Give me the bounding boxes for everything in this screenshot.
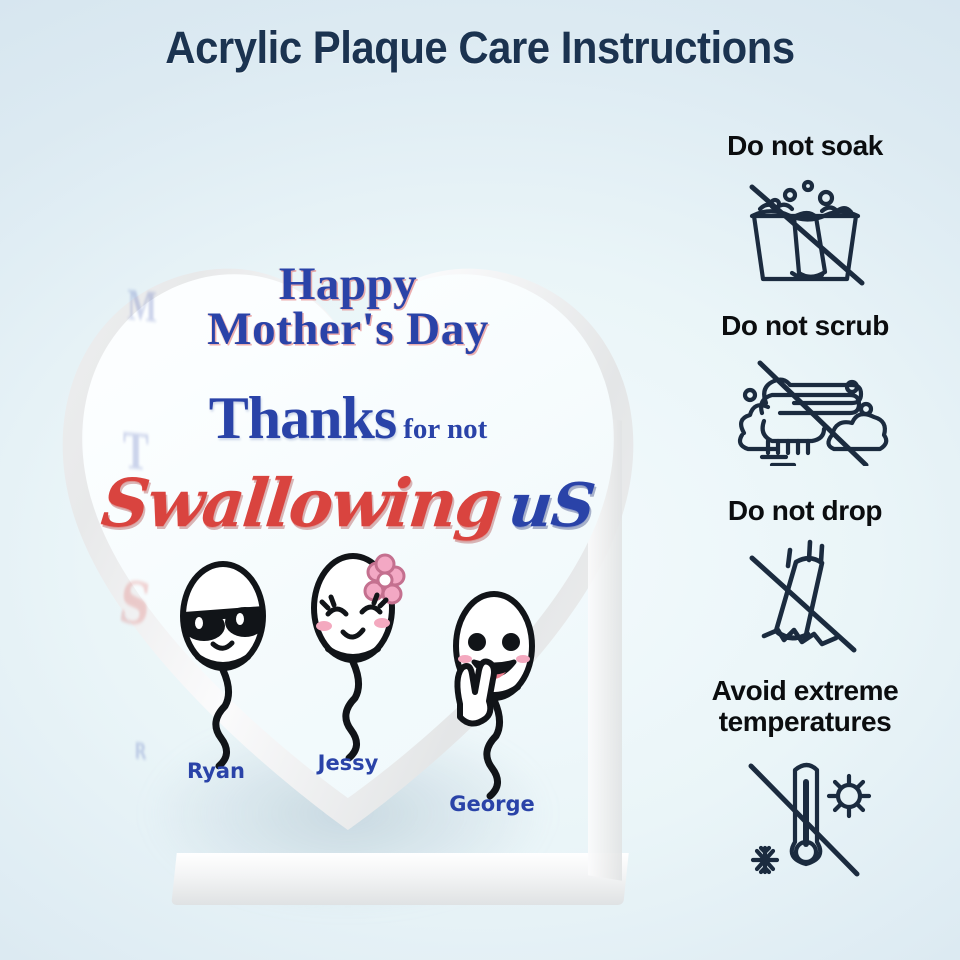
thanks-line: Thanks for not <box>50 384 646 453</box>
character-group: Ryan <box>50 554 646 854</box>
sperm-character-peace-icon <box>432 584 552 804</box>
no-scrub-icon <box>720 351 890 466</box>
character-ryan: Ryan <box>168 554 278 774</box>
care-label-no-drop: Do not drop <box>660 495 950 526</box>
care-label-avoid-extreme-temperatures-line2: temperatures <box>660 706 950 737</box>
strike-line <box>752 187 862 283</box>
character-george: George <box>432 584 552 809</box>
swallowing-line: Swallowing uS <box>50 464 646 542</box>
eye-right <box>502 633 520 651</box>
care-label-no-soak: Do not soak <box>660 130 950 161</box>
page-title: Acrylic Plaque Care Instructions <box>34 22 927 74</box>
for-not-word: for not <box>403 413 487 446</box>
care-label-avoid-extreme-temperatures-line1: Avoid extreme <box>660 675 950 706</box>
character-name-jessy: Jessy <box>268 751 428 775</box>
blush-right <box>374 618 390 628</box>
sperm-character-sunglasses-icon <box>168 554 278 769</box>
no-soak-icon <box>730 171 880 286</box>
product-care-infographic: Acrylic Plaque Care Instructions M T S R… <box>0 0 960 960</box>
swallowing-word: Swallowing <box>98 464 504 542</box>
us-word: uS <box>506 471 598 541</box>
acrylic-plaque: M T S R Happy Mother's Day Thanks for no… <box>28 118 668 918</box>
no-extreme-temperature-icon <box>725 748 885 878</box>
snowflake-icon <box>753 848 777 872</box>
blush-left <box>316 621 332 631</box>
eye-left <box>468 633 486 651</box>
care-item-no-scrub: Do not scrub <box>660 310 950 466</box>
thanks-word: Thanks <box>209 384 396 453</box>
care-label-no-scrub: Do not scrub <box>660 310 950 341</box>
care-item-no-drop: Do not drop <box>660 495 950 656</box>
care-instruction-list: Do not soak Do not scrub <box>660 130 950 920</box>
no-drop-icon <box>730 536 880 656</box>
plaque-artwork: Happy Mother's Day Thanks for not Swallo… <box>50 134 646 879</box>
character-jessy: Jessy <box>300 546 410 766</box>
character-name-george: George <box>412 792 572 816</box>
greeting-line-2: Mother's Day <box>50 302 646 356</box>
care-item-no-soak: Do not soak <box>660 130 950 286</box>
care-item-avoid-extreme-temperatures: Avoid extreme temperatures <box>660 675 950 878</box>
sperm-character-flower-icon <box>300 546 410 761</box>
